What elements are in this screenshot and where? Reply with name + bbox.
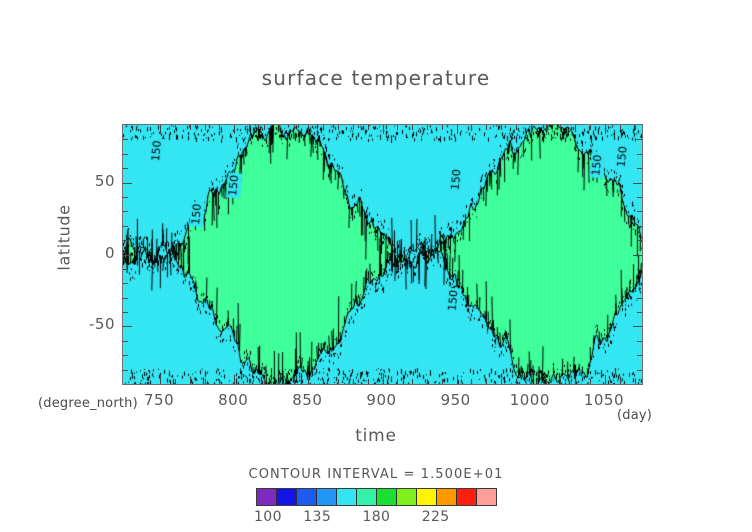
- x-axis-minor-tick-top: [412, 125, 413, 130]
- x-axis-minor-tick: [323, 379, 324, 384]
- x-axis-tick-top: [531, 125, 532, 134]
- y-axis-minor-tick-right: [637, 197, 642, 198]
- x-axis-minor-tick-top: [279, 125, 280, 130]
- y-axis-minor-tick-right: [637, 370, 642, 371]
- y-axis-minor-tick: [123, 154, 128, 155]
- x-axis-minor-tick: [353, 379, 354, 384]
- x-axis-minor-tick: [249, 379, 250, 384]
- x-axis-minor-tick-top: [575, 125, 576, 130]
- x-axis-minor-tick-top: [590, 125, 591, 130]
- x-axis-minor-tick: [205, 379, 206, 384]
- y-axis-minor-tick-right: [637, 139, 642, 140]
- x-axis-tick-top: [605, 125, 606, 134]
- y-axis-minor-tick: [123, 283, 128, 284]
- y-axis-minor-tick: [123, 341, 128, 342]
- y-axis-minor-tick-right: [637, 283, 642, 284]
- y-axis-minor-tick: [123, 211, 128, 212]
- x-axis-minor-tick: [338, 379, 339, 384]
- colorbar-swatch-2: [297, 489, 317, 505]
- colorbar: [256, 488, 497, 506]
- x-axis-tick-top: [457, 125, 458, 134]
- x-axis-tick-label: 850: [267, 391, 347, 409]
- x-axis-minor-tick: [397, 379, 398, 384]
- x-axis-minor-tick-top: [620, 125, 621, 130]
- y-axis-minor-tick: [123, 226, 128, 227]
- x-axis-minor-tick-top: [190, 125, 191, 130]
- y-axis-minor-tick-right: [637, 154, 642, 155]
- x-axis-minor-tick-top: [427, 125, 428, 130]
- y-axis-minor-tick-right: [637, 298, 642, 299]
- x-axis-tick-label: 1050: [564, 391, 644, 409]
- x-axis-minor-tick: [590, 379, 591, 384]
- x-axis-tick-top: [234, 125, 235, 134]
- x-axis-tick-top: [308, 125, 309, 134]
- x-axis-minor-tick-top: [501, 125, 502, 130]
- colorbar-swatch-7: [397, 489, 417, 505]
- x-axis-tick-label: 1000: [490, 391, 570, 409]
- colorbar-swatch-10: [457, 489, 477, 505]
- x-axis-minor-tick: [575, 379, 576, 384]
- x-axis-minor-tick: [546, 379, 547, 384]
- x-axis-minor-tick-top: [442, 125, 443, 130]
- y-axis-minor-tick: [123, 312, 128, 313]
- y-axis-minor-tick: [123, 298, 128, 299]
- x-axis-tick: [160, 375, 161, 384]
- contour-field: [123, 125, 642, 384]
- x-axis-minor-tick: [427, 379, 428, 384]
- x-axis-minor-tick-top: [353, 125, 354, 130]
- x-axis-minor-tick: [175, 379, 176, 384]
- x-axis-minor-tick-top: [205, 125, 206, 130]
- contour-interval-caption: CONTOUR INTERVAL = 1.500E+01: [0, 467, 752, 482]
- x-axis-minor-tick-top: [294, 125, 295, 130]
- x-axis-minor-tick: [264, 379, 265, 384]
- x-axis-minor-tick: [294, 379, 295, 384]
- x-axis-minor-tick: [190, 379, 191, 384]
- x-axis-minor-tick: [412, 379, 413, 384]
- y-axis-minor-tick: [123, 240, 128, 241]
- colorbar-tick-label: 225: [422, 509, 450, 525]
- x-axis-minor-tick: [471, 379, 472, 384]
- x-axis-tick: [234, 375, 235, 384]
- x-axis-minor-tick-top: [397, 125, 398, 130]
- y-axis-minor-tick: [123, 370, 128, 371]
- x-axis-tick-top: [383, 125, 384, 134]
- x-axis-minor-tick-top: [486, 125, 487, 130]
- x-axis-minor-tick-top: [338, 125, 339, 130]
- colorbar-swatch-4: [337, 489, 357, 505]
- y-axis-tick-label: -50: [55, 315, 115, 333]
- colorbar-tick-label: 135: [303, 509, 331, 525]
- x-axis-tick-label: 800: [193, 391, 273, 409]
- x-axis-minor-tick: [486, 379, 487, 384]
- y-axis-minor-tick-right: [637, 211, 642, 212]
- colorbar-swatch-1: [277, 489, 297, 505]
- colorbar-tick-label: 180: [362, 509, 390, 525]
- y-axis-tick-right: [633, 326, 642, 327]
- x-axis-minor-tick-top: [471, 125, 472, 130]
- x-axis-tick: [457, 375, 458, 384]
- x-axis-minor-tick-top: [219, 125, 220, 130]
- x-axis-label: time: [0, 426, 752, 446]
- y-axis-minor-tick: [123, 355, 128, 356]
- x-axis-minor-tick-top: [264, 125, 265, 130]
- x-axis-minor-tick-top: [175, 125, 176, 130]
- colorbar-swatch-9: [437, 489, 457, 505]
- x-axis-minor-tick: [501, 379, 502, 384]
- y-axis-tick: [123, 255, 132, 256]
- x-axis-tick-label: 950: [416, 391, 496, 409]
- y-axis-minor-tick: [123, 168, 128, 169]
- x-axis-minor-tick-top: [249, 125, 250, 130]
- chart-title: surface temperature: [0, 66, 752, 90]
- x-axis-minor-tick-top: [323, 125, 324, 130]
- x-axis-tick-top: [160, 125, 161, 134]
- y-axis-tick-label: 0: [55, 244, 115, 262]
- y-axis-tick-right: [633, 255, 642, 256]
- x-axis-minor-tick: [635, 379, 636, 384]
- y-axis-minor-tick-right: [637, 240, 642, 241]
- x-axis-minor-tick-top: [560, 125, 561, 130]
- x-axis-minor-tick: [219, 379, 220, 384]
- y-axis-tick-label: 50: [55, 172, 115, 190]
- x-axis-minor-tick: [442, 379, 443, 384]
- colorbar-swatch-3: [317, 489, 337, 505]
- x-axis-minor-tick: [560, 379, 561, 384]
- colorbar-swatch-11: [477, 489, 496, 505]
- y-axis-minor-tick-right: [637, 269, 642, 270]
- colorbar-swatch-5: [357, 489, 377, 505]
- x-axis-tick-label: 750: [119, 391, 199, 409]
- y-axis-minor-tick-right: [637, 168, 642, 169]
- x-axis-tick: [605, 375, 606, 384]
- x-axis-minor-tick-top: [368, 125, 369, 130]
- x-axis-minor-tick-top: [546, 125, 547, 130]
- x-axis-minor-tick-top: [635, 125, 636, 130]
- y-axis-minor-tick-right: [637, 355, 642, 356]
- colorbar-swatch-6: [377, 489, 397, 505]
- x-axis-tick-label: 900: [342, 391, 422, 409]
- y-axis-minor-tick-right: [637, 341, 642, 342]
- y-axis-tick: [123, 326, 132, 327]
- x-axis-minor-tick: [368, 379, 369, 384]
- plot-area: [122, 124, 643, 385]
- y-axis-minor-tick-right: [637, 312, 642, 313]
- y-axis-minor-tick-right: [637, 226, 642, 227]
- x-axis-minor-tick: [279, 379, 280, 384]
- colorbar-swatch-8: [417, 489, 437, 505]
- colorbar-tick-label: 100: [254, 509, 282, 525]
- x-axis-unit: (day): [617, 408, 652, 423]
- x-axis-tick: [383, 375, 384, 384]
- y-axis-tick: [123, 183, 132, 184]
- colorbar-swatch-0: [257, 489, 277, 505]
- y-axis-minor-tick: [123, 197, 128, 198]
- x-axis-minor-tick: [620, 379, 621, 384]
- figure-canvas: surface temperature latitude (degree_nor…: [0, 0, 752, 532]
- y-axis-minor-tick: [123, 269, 128, 270]
- y-axis-minor-tick: [123, 139, 128, 140]
- x-axis-tick: [531, 375, 532, 384]
- x-axis-minor-tick: [516, 379, 517, 384]
- x-axis-minor-tick-top: [516, 125, 517, 130]
- y-axis-tick-right: [633, 183, 642, 184]
- x-axis-tick: [308, 375, 309, 384]
